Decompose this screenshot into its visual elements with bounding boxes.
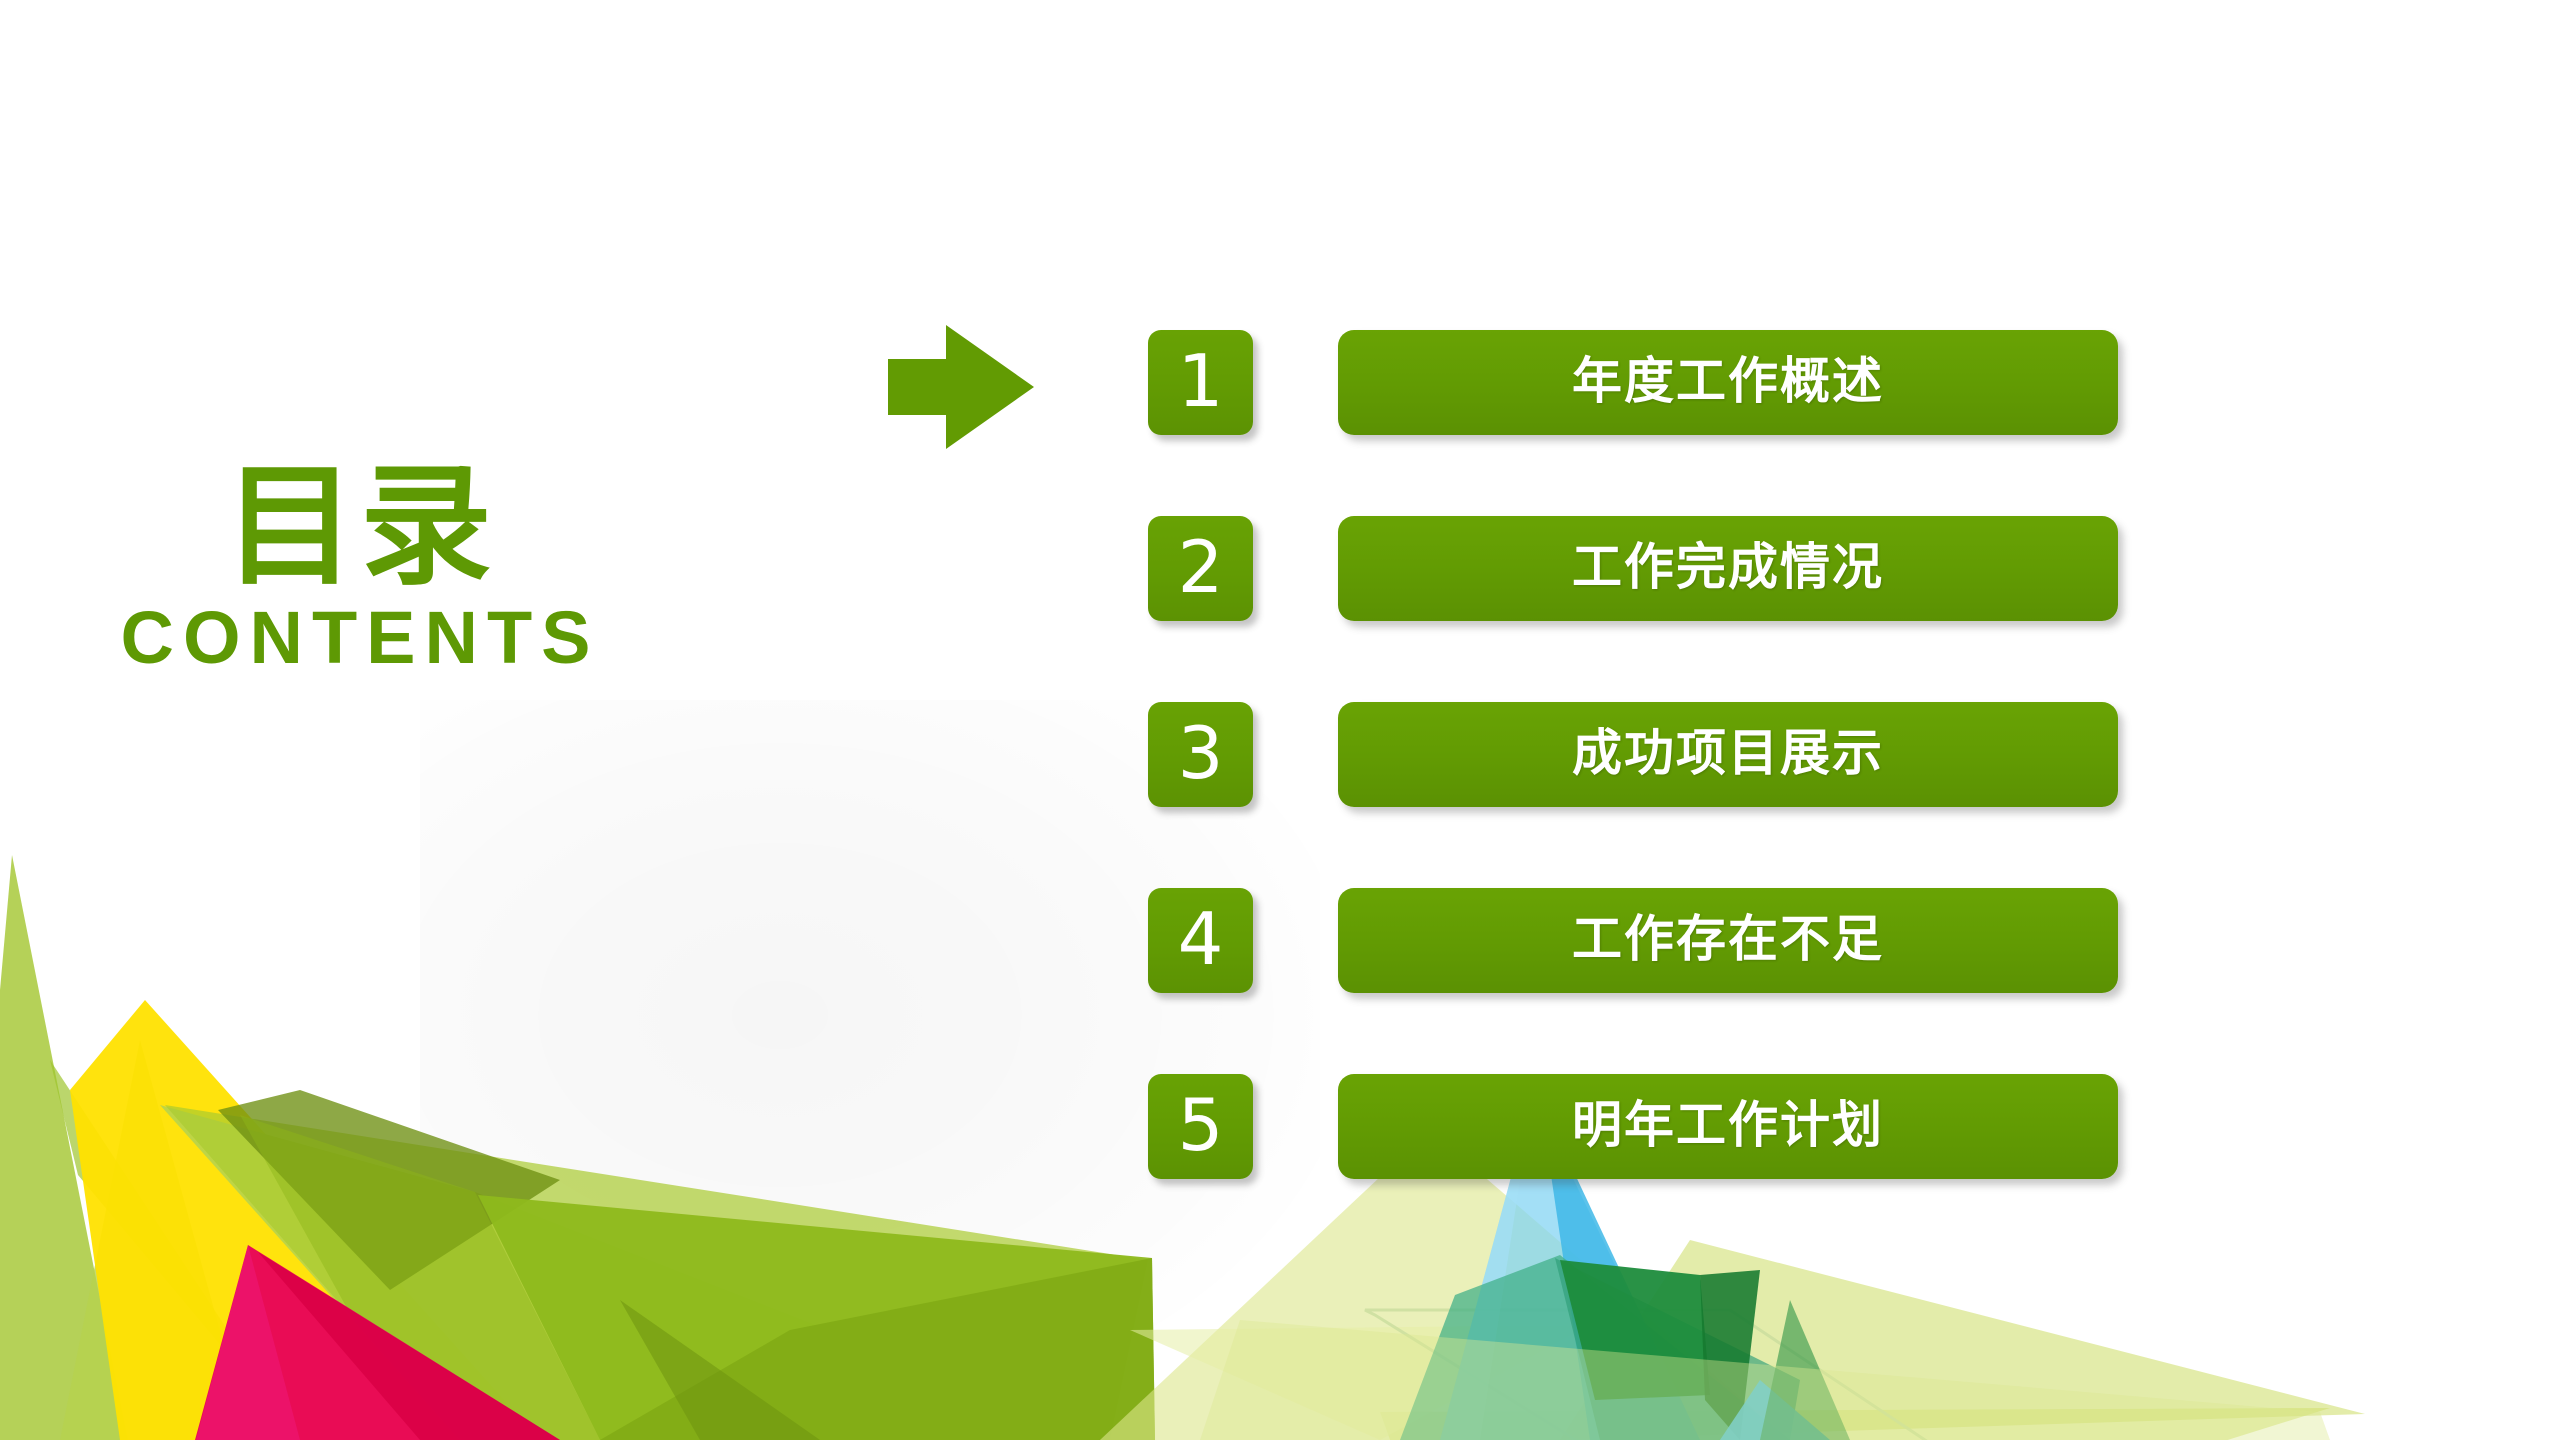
contents-item-5-label: 明年工作计划 xyxy=(1572,1100,1884,1150)
contents-item-3-bar[interactable]: 成功项目展示 xyxy=(1338,702,2118,807)
contents-item-4-bar[interactable]: 工作存在不足 xyxy=(1338,888,2118,993)
contents-item-2-label: 工作完成情况 xyxy=(1572,542,1884,592)
contents-item-2-badge[interactable]: 2 xyxy=(1148,516,1253,621)
arrow-right-icon xyxy=(886,323,1036,451)
contents-item-3[interactable]: 3 成功项目展示 xyxy=(1148,702,2128,807)
contents-item-5[interactable]: 5 明年工作计划 xyxy=(1148,1074,2128,1179)
contents-menu: 1 年度工作概述 2 工作完成情况 3 成功项目展示 4 xyxy=(1148,330,2128,1179)
contents-item-4-badge[interactable]: 4 xyxy=(1148,888,1253,993)
contents-item-2-bar[interactable]: 工作完成情况 xyxy=(1338,516,2118,621)
page-title-cn: 目录 xyxy=(60,460,660,595)
contents-item-5-bar[interactable]: 明年工作计划 xyxy=(1338,1074,2118,1179)
contents-item-5-number: 5 xyxy=(1178,1089,1224,1161)
contents-item-4-number: 4 xyxy=(1178,903,1224,975)
page-title-en: CONTENTS xyxy=(60,599,660,677)
contents-item-5-badge[interactable]: 5 xyxy=(1148,1074,1253,1179)
contents-item-1-label: 年度工作概述 xyxy=(1572,356,1884,406)
contents-item-1-badge[interactable]: 1 xyxy=(1148,330,1253,435)
contents-item-1-bar[interactable]: 年度工作概述 xyxy=(1338,330,2118,435)
contents-item-3-label: 成功项目展示 xyxy=(1572,728,1884,778)
contents-item-1[interactable]: 1 年度工作概述 xyxy=(1148,330,2128,435)
contents-item-3-number: 3 xyxy=(1178,717,1224,789)
contents-item-1-number: 1 xyxy=(1178,345,1224,417)
contents-item-4[interactable]: 4 工作存在不足 xyxy=(1148,888,2128,993)
contents-item-4-label: 工作存在不足 xyxy=(1572,914,1884,964)
page-title: 目录 CONTENTS xyxy=(60,460,660,676)
contents-item-2-number: 2 xyxy=(1178,531,1224,603)
contents-item-2[interactable]: 2 工作完成情况 xyxy=(1148,516,2128,621)
slide-canvas: 目录 CONTENTS 1 年度工作概述 2 工作完成情况 3 xyxy=(0,0,2561,1440)
contents-item-3-badge[interactable]: 3 xyxy=(1148,702,1253,807)
